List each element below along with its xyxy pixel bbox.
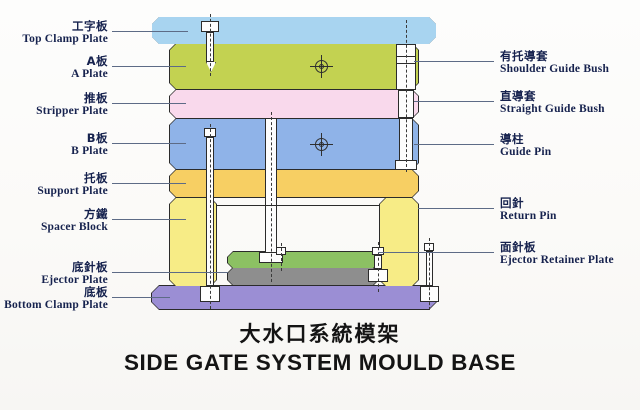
- label-spacer-block-cn: 方鐵: [0, 209, 108, 221]
- knockout-pin-centerline: [281, 243, 282, 271]
- label-ejector-retainer-plate: 面針板 Ejector Retainer Plate: [500, 242, 614, 267]
- label-stripper-plate-cn: 推板: [0, 93, 108, 105]
- ejector-pin-right-centerline: [429, 238, 430, 310]
- leader-a-plate: [112, 66, 186, 67]
- label-spacer-block-en: Spacer Block: [0, 222, 108, 234]
- label-a-plate-en: A Plate: [0, 69, 108, 81]
- label-guide-pin-en: Guide Pin: [500, 147, 551, 159]
- sprue-rod-centerline: [271, 112, 272, 282]
- label-spacer-block: 方鐵 Spacer Block: [0, 209, 108, 234]
- diagram-title-en: SIDE GATE SYSTEM MOULD BASE: [0, 350, 640, 376]
- label-support-plate: 托板 Support Plate: [0, 173, 108, 198]
- mould-base-diagram: 工字板 Top Clamp Plate A板 A Plate 推板 Stripp…: [0, 0, 640, 410]
- datum-crosshair-icon: [312, 57, 331, 76]
- label-guide-pin: 導柱 Guide Pin: [500, 134, 551, 159]
- label-b-plate-cn: B板: [0, 133, 108, 145]
- label-top-clamp-plate-en: Top Clamp Plate: [0, 34, 108, 46]
- stripper-plate: [170, 90, 418, 118]
- leader-b-plate: [112, 143, 186, 144]
- label-stripper-plate-en: Stripper Plate: [0, 106, 108, 118]
- label-shoulder-guide-bush-en: Shoulder Guide Bush: [500, 64, 609, 76]
- ejector-retainer-plate: [228, 252, 378, 268]
- label-ejector-plate-cn: 底針板: [0, 262, 108, 274]
- label-ejector-plate: 底針板 Ejector Plate: [0, 262, 108, 287]
- leader-straight-guide-bush: [414, 101, 494, 102]
- top-clamp-plate: [152, 17, 436, 44]
- leader-shoulder-guide-bush: [414, 61, 494, 62]
- label-support-plate-en: Support Plate: [0, 186, 108, 198]
- label-return-pin-en: Return Pin: [500, 211, 557, 223]
- label-straight-guide-bush-cn: 直導套: [500, 91, 605, 103]
- label-shoulder-guide-bush: 有托導套 Shoulder Guide Bush: [500, 51, 609, 76]
- leader-top-clamp-plate: [112, 31, 188, 32]
- leader-ejector-retainer-plate: [378, 252, 494, 253]
- return-pin-right-centerline: [378, 242, 379, 292]
- leader-bottom-clamp-plate: [112, 297, 170, 298]
- label-bottom-clamp-plate: 底板 Bottom Clamp Plate: [0, 287, 108, 312]
- leader-guide-pin: [414, 144, 494, 145]
- diagram-title: 大水口系統模架 SIDE GATE SYSTEM MOULD BASE: [0, 318, 640, 376]
- label-b-plate-en: B Plate: [0, 146, 108, 158]
- label-top-clamp-plate: 工字板 Top Clamp Plate: [0, 21, 108, 46]
- bottom-clamp-plate: [152, 286, 436, 309]
- label-ejector-retainer-plate-en: Ejector Retainer Plate: [500, 255, 614, 267]
- label-straight-guide-bush-en: Straight Guide Bush: [500, 104, 605, 116]
- label-ejector-retainer-plate-cn: 面針板: [500, 242, 614, 254]
- leader-return-pin: [418, 208, 494, 209]
- cavity-top-line: [216, 205, 380, 206]
- label-return-pin-cn: 回針: [500, 198, 557, 210]
- label-straight-guide-bush: 直導套 Straight Guide Bush: [500, 91, 605, 116]
- label-b-plate: B板 B Plate: [0, 133, 108, 158]
- label-support-plate-cn: 托板: [0, 173, 108, 185]
- label-return-pin: 回針 Return Pin: [500, 198, 557, 223]
- label-shoulder-guide-bush-cn: 有托導套: [500, 51, 609, 63]
- diagram-title-cn: 大水口系統模架: [0, 318, 640, 348]
- leader-spacer-block: [112, 219, 186, 220]
- return-pin-centerline: [210, 124, 211, 309]
- guide-pin-centerline: [406, 20, 407, 172]
- label-a-plate-cn: A板: [0, 56, 108, 68]
- ejector-plate: [228, 268, 378, 285]
- leader-support-plate: [112, 183, 186, 184]
- label-bottom-clamp-plate-cn: 底板: [0, 287, 108, 299]
- cap-screw-centerline: [210, 14, 211, 76]
- label-top-clamp-plate-cn: 工字板: [0, 21, 108, 33]
- label-guide-pin-cn: 導柱: [500, 134, 551, 146]
- label-a-plate: A板 A Plate: [0, 56, 108, 81]
- leader-ejector-plate: [112, 272, 228, 273]
- datum-crosshair-icon-lower: [312, 135, 331, 154]
- label-stripper-plate: 推板 Stripper Plate: [0, 93, 108, 118]
- leader-stripper-plate: [112, 103, 186, 104]
- label-bottom-clamp-plate-en: Bottom Clamp Plate: [0, 300, 108, 312]
